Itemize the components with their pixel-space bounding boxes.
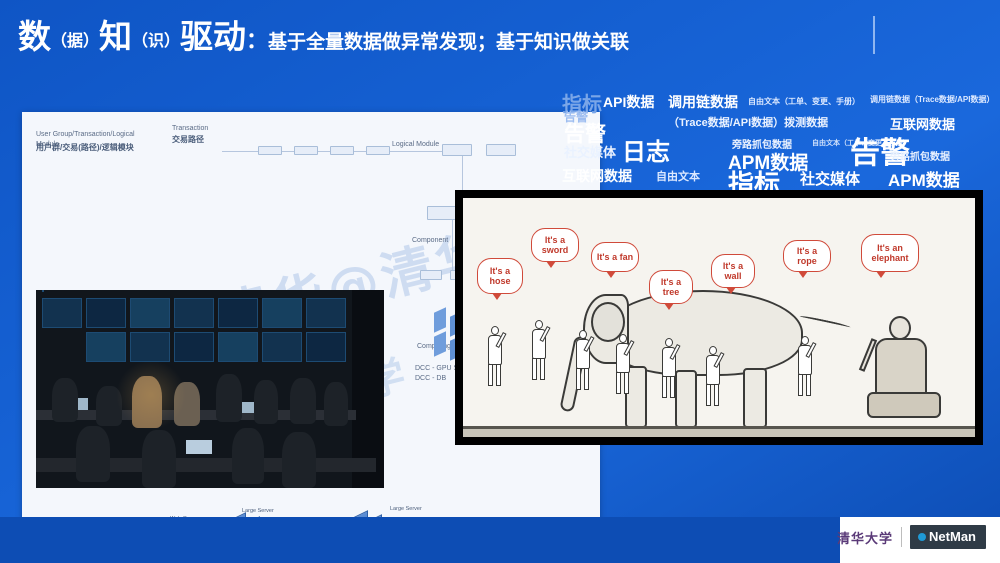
server-label: Large Server <box>390 506 422 512</box>
server-label: Large Server <box>242 508 274 514</box>
rack-unit <box>434 331 446 357</box>
diagram-node <box>420 270 442 280</box>
title-word-shu: 数 <box>18 18 51 55</box>
data-types-word-cloud: 指标 告警 API数据 调用链数据 自由文本（工单、变更、手册） 调用链数据（T… <box>560 82 998 200</box>
page-title: 数（据）知（识）驱动：基于全量数据做异常发现；基于知识做关联 <box>18 10 629 58</box>
diagram-connector <box>282 151 294 152</box>
title-word-zhi: 知 <box>99 18 132 55</box>
speech-bubble-wall: It's a wall <box>711 254 755 288</box>
rack-unit <box>434 307 446 333</box>
ground-shadow <box>463 429 975 437</box>
slide-title-bar: 数（据）知（识）驱动：基于全量数据做异常发现；基于知识做关联 <box>0 0 1000 68</box>
diagram-label-component: Component <box>412 236 448 246</box>
wordcloud-term: 社交媒体 <box>564 142 616 161</box>
diagram-node <box>442 144 472 156</box>
diagram-node <box>366 146 390 155</box>
noc-control-room-photo <box>36 290 384 488</box>
diagram-connector <box>452 220 453 270</box>
speech-bubble-hose: It's a hose <box>477 258 523 294</box>
blind-men-elephant-image: It's a hose It's a sword It's a fan It's… <box>455 190 983 445</box>
diagram-node <box>294 146 318 155</box>
speech-bubble-rope: It's a rope <box>783 240 831 272</box>
netman-dot-icon <box>918 533 926 541</box>
elephant-illustration: It's a hose It's a sword It's a fan It's… <box>463 198 975 437</box>
diagram-node <box>258 146 282 155</box>
wordcloud-term: 调用链数据 <box>668 92 738 112</box>
wordcloud-term: 日志 <box>622 132 670 167</box>
diagram-connector <box>222 151 258 152</box>
diagram-node <box>486 144 516 156</box>
title-word-qudong: 驱动 <box>180 18 246 55</box>
diagram-label-db-aux-2: DCC - DB <box>415 374 446 384</box>
diagram-label-user-group-cn: 用户群/交易(路径)/逻辑模块 <box>36 142 176 154</box>
speech-bubble-fan: It's a fan <box>591 242 639 272</box>
wordcloud-term: APM数据 <box>888 166 960 191</box>
wordcloud-term: 自由文本 <box>656 168 700 184</box>
wordcloud-term: 旁路抓包数据 <box>890 148 950 163</box>
speech-bubble-tree: It's a tree <box>649 270 693 304</box>
footer-divider <box>901 527 902 547</box>
elephant-leg <box>743 368 767 428</box>
figure-sage <box>863 316 949 428</box>
netman-logo-text: NetMan <box>929 529 976 544</box>
slide-footer: 清华大学 NetMan <box>0 517 1000 563</box>
slide-root: 数（据）知（识）驱动：基于全量数据做异常发现；基于知识做关联 清华@清华大学 清… <box>0 0 1000 563</box>
wordcloud-term: 社交媒体 <box>800 168 860 189</box>
wordcloud-term: 互联网数据 <box>562 166 632 186</box>
speech-bubble-elephant: It's an elephant <box>861 234 919 272</box>
diagram-node <box>330 146 354 155</box>
wordcloud-term: 自由文本（工单、变更、手册） <box>748 96 860 107</box>
diagram-connector <box>390 151 442 152</box>
diagram-connector <box>318 151 330 152</box>
wordcloud-term: 调用链数据（Trace数据/API数据） <box>870 94 994 105</box>
diagram-label-transaction-en: Transaction <box>172 124 208 134</box>
tsinghua-logo: 清华大学 <box>837 528 893 547</box>
diagram-connector <box>354 151 366 152</box>
elephant-leg <box>675 370 697 428</box>
footer-logos: 清华大学 NetMan <box>837 525 986 549</box>
wordcloud-term: （Trace数据/API数据）拨测数据 <box>668 114 828 130</box>
elephant-body <box>603 290 803 376</box>
title-divider-rule <box>873 16 875 54</box>
title-subtitle: 基于全量数据做异常发现；基于知识做关联 <box>268 32 629 53</box>
title-paren-shi: （识） <box>132 33 180 50</box>
footer-blue-band <box>0 517 840 563</box>
netman-logo: NetMan <box>910 525 986 549</box>
speech-bubble-sword: It's a sword <box>531 228 579 262</box>
diagram-label-logical-module: Logical Module <box>392 140 439 150</box>
diagram-label-transaction-cn: 交易路径 <box>172 134 204 146</box>
title-colon: ： <box>246 28 268 53</box>
elephant-tail <box>799 315 851 330</box>
title-paren-ju: （据） <box>51 33 99 50</box>
wordcloud-term: API数据 <box>603 92 654 112</box>
